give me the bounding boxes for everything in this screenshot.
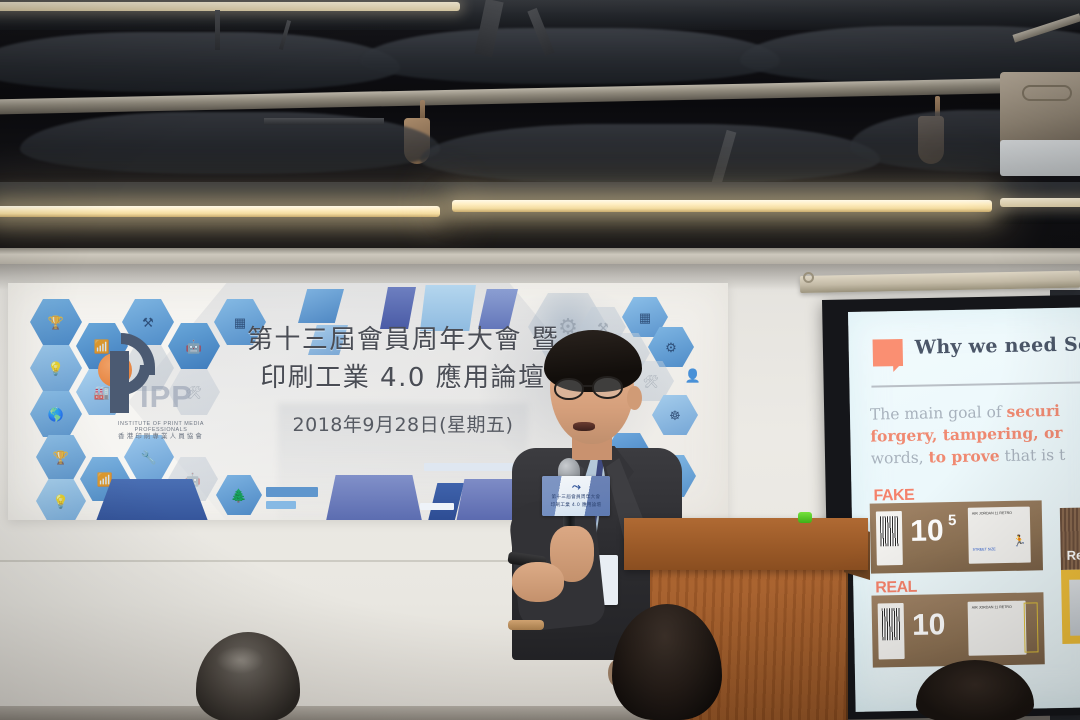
microphone-flag-text-line-1: 第十三屆會員周年大會 <box>548 494 604 500</box>
shoebox-fake-product-line-1: AIR JORDAN 11 RETRO <box>972 511 1012 516</box>
banner-shape-trap-1 <box>96 479 208 520</box>
slide-shoebox-real: 10 AIR JORDAN 11 RETRO <box>871 592 1044 667</box>
lightbulb-icon: 💡 <box>53 495 69 508</box>
ceiling-light-strip-right <box>452 200 992 212</box>
shoebox-real-product-line-1: AIR JORDAN 11 RETRO <box>972 605 1012 610</box>
globe-icon: 🌎 <box>48 408 64 421</box>
speaker-hand-holding-remote <box>512 562 564 602</box>
ipp-logo-acronym: IPP <box>140 379 193 415</box>
banner-shape-trap-2 <box>326 475 422 520</box>
microphone-flag: ⤳ 第十三屆會員周年大會 印刷工業 4.0 應用論壇 <box>542 476 610 516</box>
server-icon: ▦ <box>639 311 651 324</box>
shoebox-fake-product-label: AIR JORDAN 11 RETRO STREET SIZE 🏃 <box>968 507 1031 564</box>
trophy-icon: 🏆 <box>48 316 64 329</box>
slide-body-line-3-bold: to prove <box>928 446 999 466</box>
ceiling-insulation-1 <box>0 32 400 92</box>
banner-shape-line-1 <box>420 503 454 510</box>
slide-body-line-3: words, to prove that is t <box>871 443 1080 470</box>
slide-body-line-1-plain: The main goal of <box>870 403 1007 424</box>
ceiling <box>0 0 1080 258</box>
hex-trophy-2: 🏆 <box>36 435 86 479</box>
slide-bullet-square-icon <box>873 339 904 367</box>
shoebox-fake-size: 10 <box>910 514 944 549</box>
slide-divider <box>871 381 1080 388</box>
ipp-logo-chinese-name: 香港印刷專業人員協會 <box>94 430 228 440</box>
audience-head-left-highlight <box>216 646 264 674</box>
tools-icon: ⚒ <box>142 316 154 329</box>
slide-shoebox-fake: 10 5 AIR JORDAN 11 RETRO STREET SIZE 🏃 <box>870 500 1043 573</box>
podium-top <box>624 518 868 570</box>
stool-edge <box>508 620 544 630</box>
lightbulb-icon: 💡 <box>48 362 64 375</box>
shoebox-fake-product-line-2: STREET SIZE <box>973 547 996 551</box>
ipp-logo: IPP INSTITUTE OF PRINT MEDIA PROFESSIONA… <box>88 335 228 443</box>
tree-icon: 🌲 <box>231 489 247 502</box>
shoebox-real-size: 10 <box>912 608 946 643</box>
ceiling-insulation-5 <box>420 124 880 184</box>
shoebox-fake-barcode-tag <box>876 511 903 565</box>
slide-body-line-3-plain-b: that is t <box>999 446 1065 465</box>
microphone-flag-text-line-2: 印刷工業 4.0 應用論壇 <box>548 502 604 508</box>
speaker-glasses-left-lens <box>554 378 584 400</box>
trophy-icon: 🏆 <box>53 451 69 464</box>
hex-lightbulb: 💡 <box>30 345 82 391</box>
speaker-mouth <box>573 422 595 431</box>
ceiling-light-strip-left <box>0 206 440 217</box>
slide-title: Why we need Secur <box>914 333 1080 359</box>
speaker-glasses-right-lens <box>592 376 623 399</box>
banner-shape-bar-1 <box>266 487 318 497</box>
slide-body-line-2-bold: forgery, tampering, or <box>870 423 1062 446</box>
shoebox-fake-size-sup: 5 <box>948 512 957 529</box>
shoebox-real-highlight-box <box>1024 602 1039 652</box>
green-clip-object <box>798 512 812 523</box>
slide-body-line-3-plain-a: words, <box>871 448 929 467</box>
shoebox-real-barcode-tag <box>878 603 905 659</box>
slide-label-real-right: Real <box>1067 547 1080 563</box>
wall-top-trim <box>0 248 1080 264</box>
projected-slide: Why we need Secur The main goal of secur… <box>848 307 1080 712</box>
ceiling-insulation-2 <box>360 28 780 84</box>
slide-real-panel-inner <box>1069 579 1080 636</box>
ceiling-mounted-box <box>1000 72 1080 146</box>
slide-body-text: The main goal of securi forgery, tamperi… <box>870 399 1080 470</box>
shoebox-real-product-label: AIR JORDAN 11 RETRO <box>968 601 1027 656</box>
speaker-glasses-bridge <box>583 385 594 387</box>
screen-roller-bracket <box>803 272 814 283</box>
ceiling-light-strip-far-right <box>1000 198 1080 207</box>
shoebox-fake-barcode <box>880 516 899 546</box>
hex-trophy: 🏆 <box>30 299 82 345</box>
shoebox-real-barcode <box>882 608 901 640</box>
speaker-ear <box>627 386 642 410</box>
wrench-icon: 🔧 <box>141 451 157 464</box>
ceiling-box-vent <box>1022 85 1073 101</box>
ceiling-tray-1 <box>264 118 384 125</box>
presentation-photo-scene: 🏆 📶 ⚒ 🤖 ▦ 💡 🏭 ☁ 🛠 🌎 🏆 📶 🔧 🤖 💡 ☁ ⚙ ⚒ ▦ ▤ … <box>0 0 1080 720</box>
hex-lightbulb-2: 💡 <box>36 479 86 520</box>
slide-body-line-1-bold: securi <box>1006 401 1060 421</box>
ceiling-panel <box>1000 140 1080 176</box>
hex-globe: 🌎 <box>30 391 82 437</box>
ceiling-light-strip-top <box>0 2 460 11</box>
jumpman-icon: 🏃 <box>1012 535 1026 548</box>
microphone-flag-logo: ⤳ <box>572 480 581 494</box>
ceiling-cable-1 <box>215 10 220 50</box>
banner-shape-bar-2 <box>266 501 296 509</box>
